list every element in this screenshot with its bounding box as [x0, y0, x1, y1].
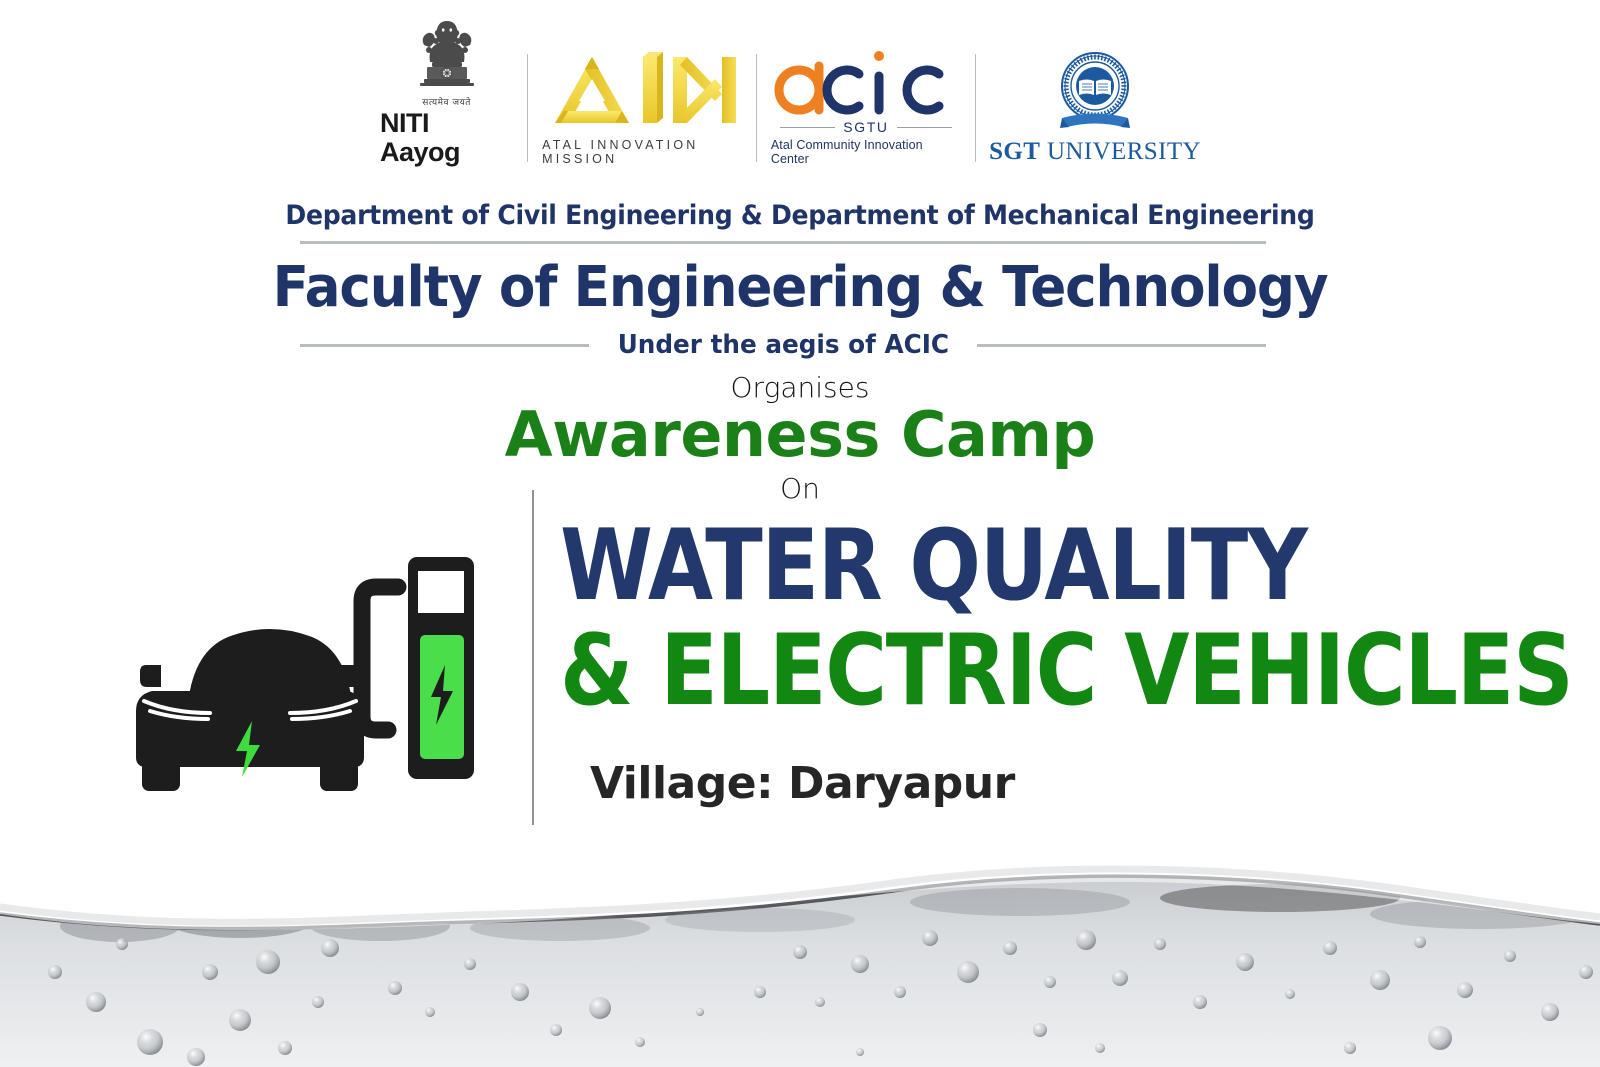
acic-rule-right: [897, 127, 952, 128]
main-topic-title: WATER QUALITY & ELECTRIC VEHICLES: [560, 520, 1480, 718]
acic-subtitle: Atal Community Innovation Center: [771, 138, 961, 166]
sgt-university-seal-icon: [1054, 48, 1136, 134]
faculty-line: Faculty of Engineering & Technology: [40, 255, 1560, 320]
logo-divider-2: [756, 54, 757, 162]
event-type-title: Awareness Camp: [0, 398, 1600, 471]
on-label: On: [0, 472, 1600, 505]
niti-wordmark: NITI Aayog: [380, 109, 513, 166]
venue-village: Village: Daryapur: [590, 758, 1015, 809]
logo-divider-1: [527, 54, 528, 162]
aim-triangle-icon: [547, 49, 737, 133]
aegis-rule-left: [300, 344, 589, 347]
logo-sgt-university: SGT UNIVERSITY: [990, 38, 1200, 166]
poster-canvas: सत्यमेव जयते NITI Aayog: [0, 0, 1600, 1067]
vertical-divider: [532, 490, 534, 825]
acic-sgtu-label: SGTU: [835, 119, 896, 135]
sgt-wordmark-bold: SGT: [989, 138, 1040, 165]
logo-atal-innovation-mission: ATAL INNOVATION MISSION: [542, 38, 742, 166]
topic-line-2: & ELECTRIC VEHICLES: [560, 625, 1351, 718]
sgt-wordmark: SGT UNIVERSITY: [989, 138, 1201, 166]
electric-vehicle-charging-icon: [120, 525, 520, 825]
aim-wordmark: ATAL INNOVATION MISSION: [542, 138, 742, 166]
logo-niti-aayog: सत्यमेव जयते NITI Aayog: [380, 38, 513, 166]
logo-strip: सत्यमेव जयते NITI Aayog: [380, 38, 1200, 166]
aegis-rule-right: [977, 344, 1266, 347]
acic-rule-left: [780, 127, 835, 128]
divider-below-department: [300, 241, 1266, 244]
acic-wordmark-icon: [773, 46, 959, 116]
aegis-line: Under the aegis of ACIC: [598, 330, 967, 360]
logo-acic: SGTU Atal Community Innovation Center: [771, 38, 961, 166]
topic-line-1: WATER QUALITY: [560, 520, 1351, 613]
ashoka-lion-capital-icon: [410, 17, 484, 97]
logo-divider-3: [975, 54, 976, 162]
acic-sgtu-row: SGTU: [780, 119, 952, 135]
sgt-wordmark-light: UNIVERSITY: [1047, 138, 1201, 165]
aegis-row: Under the aegis of ACIC: [300, 330, 1266, 360]
department-line: Department of Civil Engineering & Depart…: [56, 200, 1544, 231]
water-surface-with-bubbles-photo: [0, 852, 1600, 1067]
